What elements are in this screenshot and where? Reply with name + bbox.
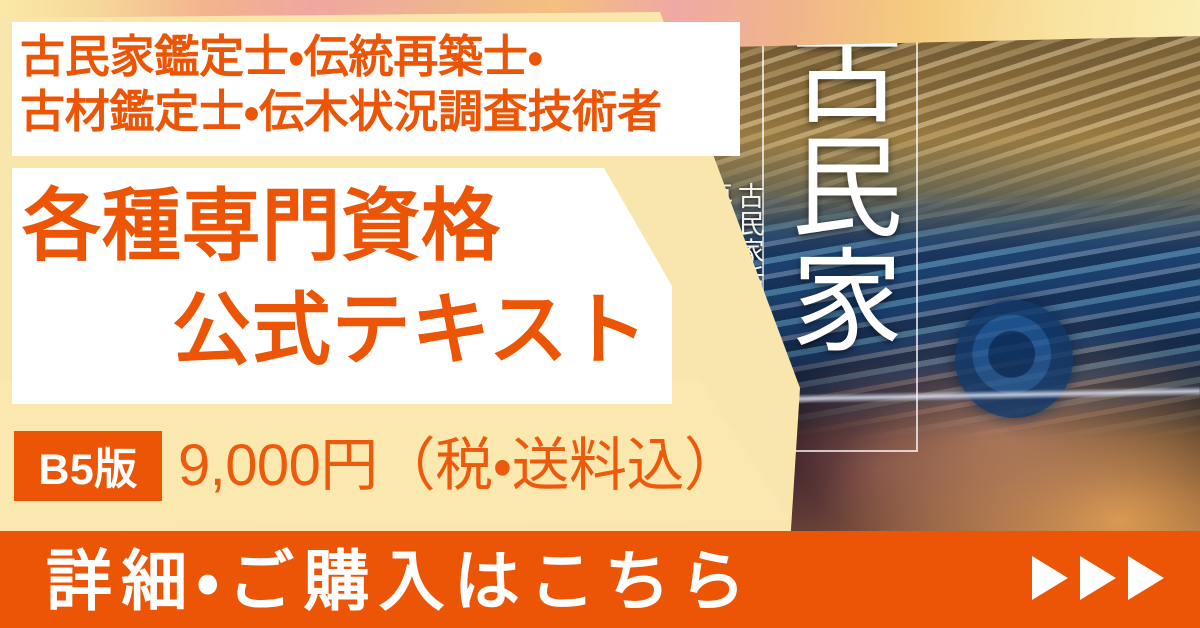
- chevron-right-icon: [1128, 556, 1164, 600]
- format-badge: B5版: [14, 431, 162, 501]
- chevron-right-icon: [1080, 556, 1116, 600]
- headline-line-1: 各種専門資格: [22, 186, 501, 265]
- certifications-text: 古民家鑑定士・伝統再築士・ 古材鑑定士・伝木状況調査技術者: [20, 30, 740, 140]
- cta-label[interactable]: 詳細・ご購入はこちら: [46, 541, 755, 622]
- price-text: 9,000円（税・送料込）: [178, 434, 741, 498]
- cta-arrows[interactable]: [1032, 556, 1164, 600]
- book-cover-title: 古民家: [778, 14, 906, 434]
- family-crest-ornament: [955, 300, 1073, 418]
- chevron-right-icon: [1032, 556, 1068, 600]
- headline-line-2: 公式テキスト: [172, 290, 648, 369]
- promo-banner: 古民家 伝統構法 古民家活用のための調査と再生の 古民家鑑定士・伝統再築士・ 古…: [0, 0, 1200, 628]
